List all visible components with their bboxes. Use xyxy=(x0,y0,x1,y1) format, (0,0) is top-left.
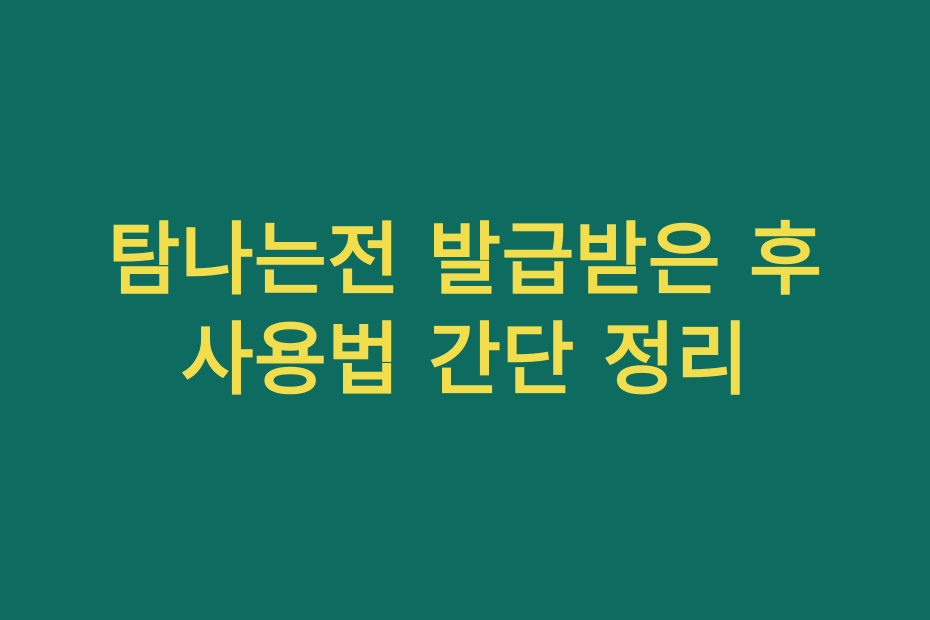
banner-canvas: 탐나는전 발급받은 후 사용법 간단 정리 xyxy=(0,0,930,620)
headline-line-1: 탐나는전 발급받은 후 xyxy=(40,211,890,311)
headline-block: 탐나는전 발급받은 후 사용법 간단 정리 xyxy=(0,211,930,410)
headline-line-2: 사용법 간단 정리 xyxy=(40,311,890,411)
